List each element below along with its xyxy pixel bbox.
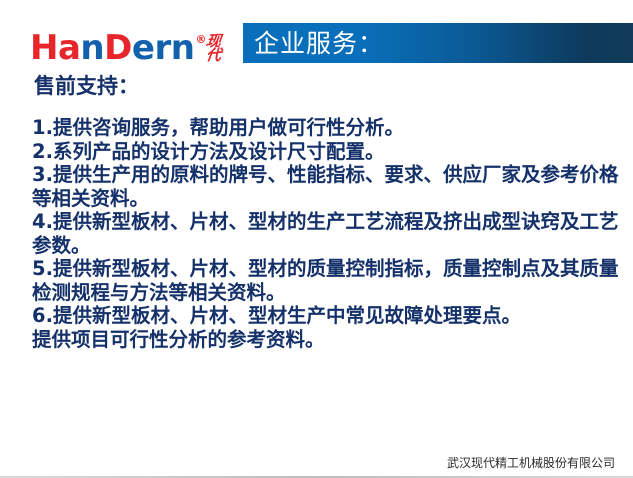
title-banner: 企业服务：	[243, 23, 633, 63]
list-item-text: 系列产品的设计方法及设计尺寸配置。	[53, 140, 385, 163]
list-item-number: 1.	[32, 116, 53, 139]
list-item-text: 提供新型板材、片材、型材生产中常见故障处理要点。	[53, 304, 521, 327]
logo-letter-d: D	[104, 28, 132, 68]
closing-note: 提供项目可行性分析的参考资料。	[0, 328, 633, 352]
logo-letter-h: H	[30, 28, 58, 68]
brand-logo: HanDern ® 现 代	[30, 20, 226, 65]
logo-wordmark: HanDern	[30, 31, 194, 65]
page-header: HanDern ® 现 代 企业服务：	[0, 0, 633, 72]
list-item: 3.提供生产用的原料的牌号、性能指标、要求、供应厂家及参考价格等相关资料。	[32, 163, 627, 210]
list-item-text: 提供新型板材、片材、型材的质量控制指标，质量控制点及其质量检测规程与方法等相关资…	[32, 257, 619, 304]
list-item-text: 提供生产用的原料的牌号、性能指标、要求、供应厂家及参考价格等相关资料。	[32, 163, 619, 210]
list-item-number: 3.	[32, 163, 53, 186]
list-item: 6.提供新型板材、片材、型材生产中常见故障处理要点。	[32, 304, 627, 328]
list-item-number: 6.	[32, 304, 53, 327]
logo-chinese-char-2: 代	[205, 48, 227, 63]
list-item: 4.提供新型板材、片材、型材的生产工艺流程及挤出成型诀窍及工艺参数。	[32, 210, 627, 257]
list-item-number: 2.	[32, 140, 53, 163]
content-area: 售前支持： 1.提供咨询服务，帮助用户做可行性分析。 2.系列产品的设计方法及设…	[0, 72, 633, 351]
service-list: 1.提供咨询服务，帮助用户做可行性分析。 2.系列产品的设计方法及设计尺寸配置。…	[0, 116, 633, 328]
logo-chinese-mark: 现 代	[206, 34, 226, 63]
list-item-text: 提供新型板材、片材、型材的生产工艺流程及挤出成型诀窍及工艺参数。	[32, 210, 619, 257]
list-item: 5.提供新型板材、片材、型材的质量控制指标，质量控制点及其质量检测规程与方法等相…	[32, 257, 627, 304]
list-item-text: 提供咨询服务，帮助用户做可行性分析。	[53, 116, 404, 139]
list-item: 1.提供咨询服务，帮助用户做可行性分析。	[32, 116, 627, 140]
list-item-number: 5.	[32, 257, 53, 280]
logo-letter-r: r	[154, 28, 170, 68]
section-heading: 售前支持：	[0, 72, 633, 100]
footer-company-name: 武汉现代精工机械股份有限公司	[447, 456, 615, 470]
logo-letter-a: a	[58, 28, 80, 68]
list-item-number: 4.	[32, 210, 53, 233]
logo-letter-n1: n	[80, 28, 104, 68]
page-footer: 武汉现代精工机械股份有限公司	[0, 448, 633, 478]
logo-letter-e: e	[132, 28, 155, 68]
logo-letter-n2: n	[171, 28, 195, 68]
list-item: 2.系列产品的设计方法及设计尺寸配置。	[32, 140, 627, 164]
page-title: 企业服务：	[243, 31, 384, 56]
